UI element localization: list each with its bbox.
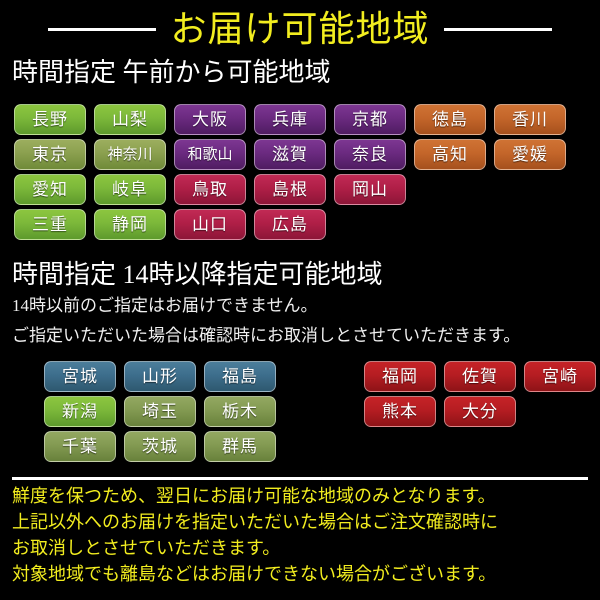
prefecture-badge-徳島: 徳島 <box>414 104 486 135</box>
footer-divider <box>12 477 588 480</box>
prefecture-badge-福岡: 福岡 <box>364 361 436 392</box>
delivery-area-graphic: お届け可能地域 時間指定 午前から可能地域 長野山梨大阪兵庫京都徳島香川東京神奈… <box>0 0 600 600</box>
page-title: お届け可能地域 <box>170 11 429 47</box>
prefecture-badge-香川: 香川 <box>494 104 566 135</box>
prefecture-badge-宮城: 宮城 <box>44 361 116 392</box>
prefecture-badge-熊本: 熊本 <box>364 396 436 427</box>
afternoon-note-line-2: ご指定いただいた場合は確認時にお取消しとさせていただきます。 <box>12 327 520 344</box>
prefecture-badge-鳥取: 鳥取 <box>174 174 246 205</box>
prefecture-badge-岐阜: 岐阜 <box>94 174 166 205</box>
page-title-row: お届け可能地域 <box>0 4 600 54</box>
footer-note-line-4: 対象地域でも離島などはお届けできない場合がございます。 <box>12 565 496 583</box>
prefecture-badge-兵庫: 兵庫 <box>254 104 326 135</box>
prefecture-badge-茨城: 茨城 <box>124 431 196 462</box>
prefecture-badge-新潟: 新潟 <box>44 396 116 427</box>
prefecture-badge-奈良: 奈良 <box>334 139 406 170</box>
prefecture-badge-山口: 山口 <box>174 209 246 240</box>
prefecture-badge-愛知: 愛知 <box>14 174 86 205</box>
prefecture-badge-三重: 三重 <box>14 209 86 240</box>
prefecture-badge-広島: 広島 <box>254 209 326 240</box>
prefecture-badge-静岡: 静岡 <box>94 209 166 240</box>
prefecture-badge-岡山: 岡山 <box>334 174 406 205</box>
prefecture-badge-群馬: 群馬 <box>204 431 276 462</box>
prefecture-badge-山形: 山形 <box>124 361 196 392</box>
prefecture-badge-栃木: 栃木 <box>204 396 276 427</box>
prefecture-badge-佐賀: 佐賀 <box>444 361 516 392</box>
footer-note-line-3: お取消しとさせていただきます。 <box>12 539 280 557</box>
prefecture-badge-愛媛: 愛媛 <box>494 139 566 170</box>
prefecture-badge-和歌山: 和歌山 <box>174 139 246 170</box>
footer-note-line-1: 鮮度を保つため、翌日にお届け可能な地域のみとなります。 <box>12 487 496 505</box>
prefecture-badge-滋賀: 滋賀 <box>254 139 326 170</box>
prefecture-badge-京都: 京都 <box>334 104 406 135</box>
prefecture-badge-大分: 大分 <box>444 396 516 427</box>
prefecture-badge-島根: 島根 <box>254 174 326 205</box>
prefecture-badge-福島: 福島 <box>204 361 276 392</box>
title-rule-left <box>48 28 156 31</box>
prefecture-badge-埼玉: 埼玉 <box>124 396 196 427</box>
section-heading-afternoon: 時間指定 14時以降指定可能地域 <box>12 262 383 288</box>
prefecture-badge-神奈川: 神奈川 <box>94 139 166 170</box>
section-heading-morning: 時間指定 午前から可能地域 <box>12 60 331 86</box>
prefecture-badge-長野: 長野 <box>14 104 86 135</box>
prefecture-badge-千葉: 千葉 <box>44 431 116 462</box>
prefecture-badge-山梨: 山梨 <box>94 104 166 135</box>
prefecture-badge-東京: 東京 <box>14 139 86 170</box>
prefecture-badge-宮崎: 宮崎 <box>524 361 596 392</box>
afternoon-note-line-1: 14時以前のご指定はお届けできません。 <box>12 297 318 314</box>
prefecture-badge-大阪: 大阪 <box>174 104 246 135</box>
footer-note-line-2: 上記以外へのお届けを指定いただいた場合はご注文確認時に <box>12 513 498 531</box>
prefecture-badge-高知: 高知 <box>414 139 486 170</box>
title-rule-right <box>444 28 552 31</box>
